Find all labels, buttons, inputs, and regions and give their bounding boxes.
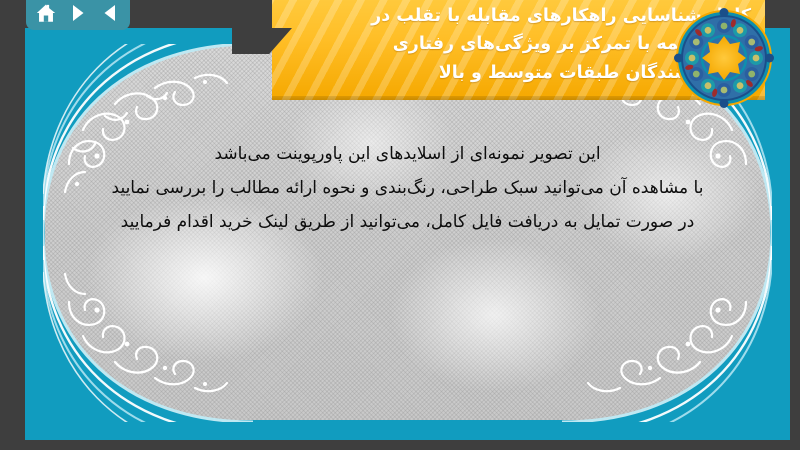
home-icon[interactable] bbox=[35, 2, 57, 24]
prev-triangle-icon[interactable] bbox=[99, 2, 121, 24]
persian-medallion-ornament bbox=[674, 8, 774, 108]
next-triangle-icon[interactable] bbox=[67, 2, 89, 24]
slide-inner-panel bbox=[45, 46, 770, 420]
body-line-2: با مشاهده آن می‌توانید سبک طراحی، رنگ‌بن… bbox=[65, 180, 750, 197]
body-line-3: در صورت تمایل به دریافت فایل کامل، می‌تو… bbox=[65, 214, 750, 231]
body-line-1: این تصویر نمونه‌ای از اسلایدهای این پاور… bbox=[65, 146, 750, 163]
slide-navigation-bar bbox=[26, 0, 130, 30]
slide-viewer: این تصویر نمونه‌ای از اسلایدهای این پاور… bbox=[0, 0, 800, 450]
slide-body: این تصویر نمونه‌ای از اسلایدهای این پاور… bbox=[25, 146, 790, 231]
